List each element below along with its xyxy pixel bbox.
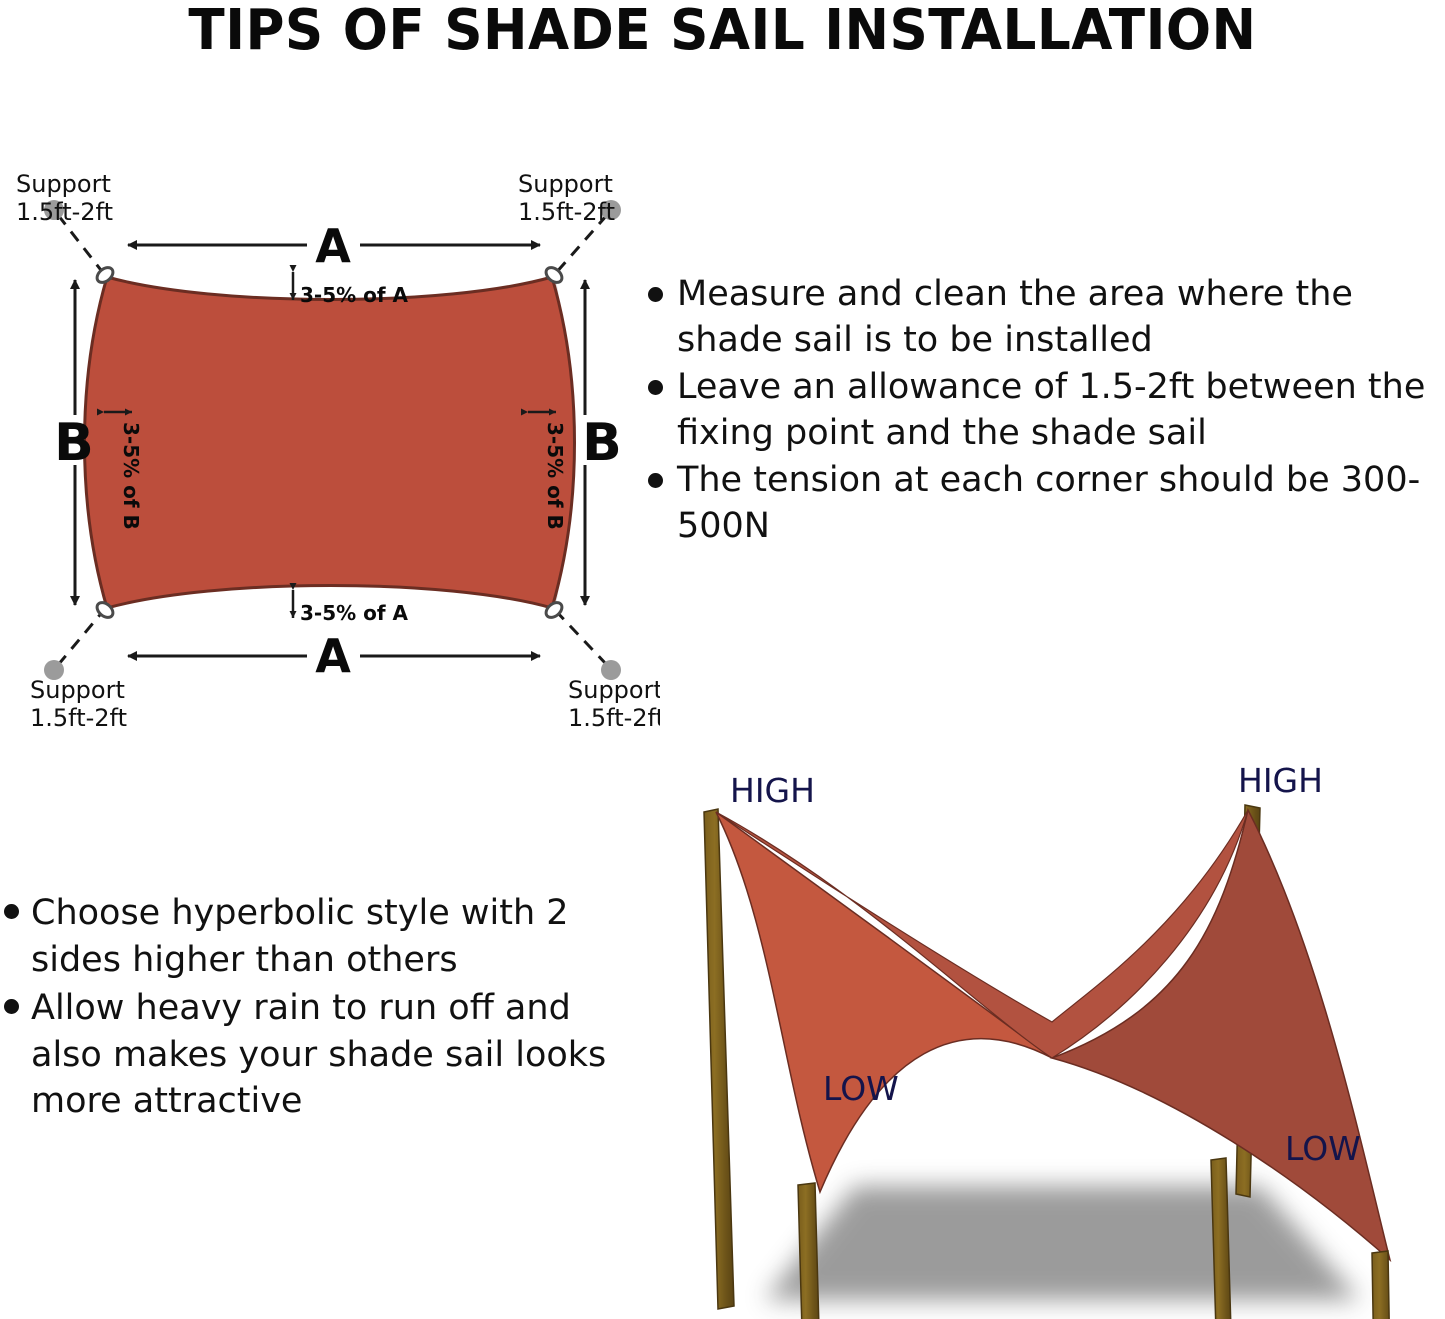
hyperbolic-style-tips-list: Choose hyperbolic style with 2 sides hig…: [4, 890, 624, 1127]
support-label-bottom-left-line2: 1.5ft-2ft: [30, 704, 127, 732]
tip-text: Allow heavy rain to run off and also mak…: [31, 985, 624, 1125]
bullet-dot-icon: [648, 380, 663, 395]
label-low-right: LOW: [1285, 1129, 1361, 1168]
list-item: Allow heavy rain to run off and also mak…: [4, 985, 624, 1125]
lead-line-bottom-left: [58, 610, 104, 665]
curvature-label-left: 3-5% of B: [119, 422, 143, 530]
list-item: The tension at each corner should be 300…: [648, 458, 1445, 549]
dimension-label-b-left: B: [54, 413, 94, 473]
label-low-left: LOW: [823, 1069, 899, 1108]
shade-sail-shape: [85, 277, 575, 608]
dimension-label-a-bottom: A: [315, 629, 351, 683]
post-high-left: [704, 809, 734, 1309]
lead-line-bottom-right: [555, 610, 607, 665]
tip-text: Choose hyperbolic style with 2 sides hig…: [31, 890, 624, 983]
list-item: Measure and clean the area where the sha…: [648, 272, 1445, 363]
list-item: Leave an allowance of 1.5-2ft between th…: [648, 365, 1445, 456]
hyperbolic-sail-illustration: HIGH HIGH LOW LOW: [660, 760, 1445, 1319]
rectangular-sail-diagram: A 3-5% of A A 3-5% of A B 3-5% of B: [0, 150, 660, 750]
dimension-label-a-top: A: [315, 219, 351, 273]
curvature-label-bottom: 3-5% of A: [300, 601, 409, 625]
tip-text: Leave an allowance of 1.5-2ft between th…: [677, 365, 1445, 456]
support-label-top-right-line1: Support: [518, 170, 613, 198]
support-label-bottom-right-line1: Support: [568, 676, 660, 704]
curvature-label-right: 3-5% of B: [543, 422, 567, 530]
label-high-right: HIGH: [1238, 761, 1323, 800]
bullet-dot-icon: [648, 473, 663, 488]
post-low-right: [1372, 1251, 1393, 1319]
tip-text: The tension at each corner should be 300…: [677, 458, 1445, 549]
installation-tips-list: Measure and clean the area where the sha…: [648, 272, 1445, 551]
list-item: Choose hyperbolic style with 2 sides hig…: [4, 890, 624, 983]
bullet-dot-icon: [4, 904, 19, 919]
dimension-label-b-right: B: [582, 413, 622, 473]
tip-text: Measure and clean the area where the sha…: [677, 272, 1445, 363]
label-high-left: HIGH: [730, 771, 815, 810]
bullet-dot-icon: [4, 999, 19, 1014]
support-label-top-left-line1: Support: [16, 170, 111, 198]
support-label-top-right-line2: 1.5ft-2ft: [518, 198, 615, 226]
support-label-bottom-right-line2: 1.5ft-2ft: [568, 704, 660, 732]
ground-shadow: [765, 1186, 1360, 1300]
bullet-dot-icon: [648, 287, 663, 302]
page-title: TIPS OF SHADE SAIL INSTALLATION: [36, 2, 1409, 61]
curvature-label-top: 3-5% of A: [300, 283, 409, 307]
post-low-left: [798, 1183, 820, 1319]
infographic-page: TIPS OF SHADE SAIL INSTALLATION: [0, 0, 1445, 1319]
support-label-bottom-left-line1: Support: [30, 676, 125, 704]
support-label-top-left-line2: 1.5ft-2ft: [16, 198, 113, 226]
